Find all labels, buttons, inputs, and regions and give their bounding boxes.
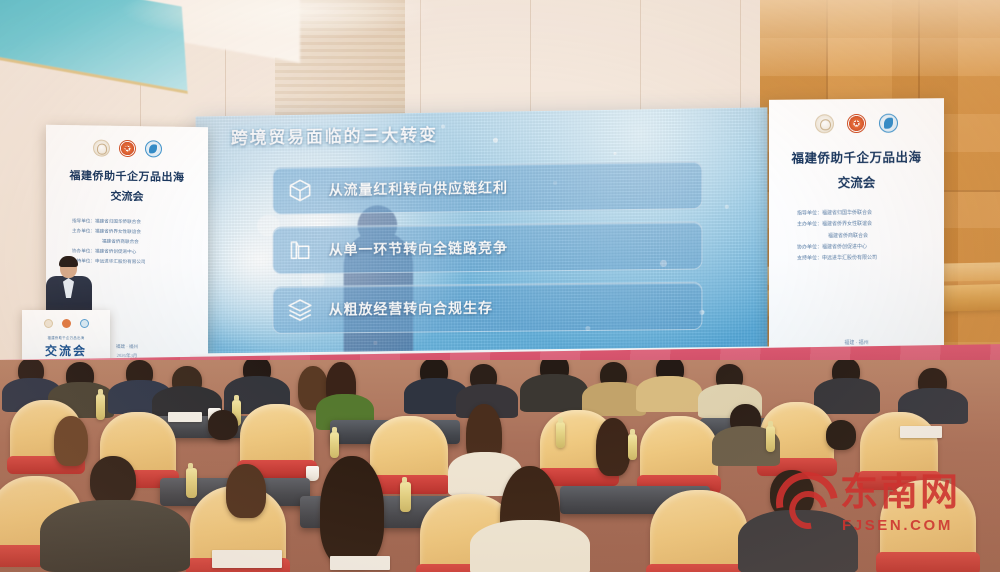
banner-left-title: 福建侨助千企万品出海 [46, 167, 208, 186]
org-role: 指导单位： [797, 209, 822, 219]
org-role: 主办单位： [72, 227, 95, 236]
org-role: 协办单位： [797, 243, 822, 253]
org-name: 福建省归国华侨联合会 [822, 209, 872, 220]
blue-globe-logo [145, 140, 162, 157]
conference-photo: 跨境贸易面临的三大转变 从流量红利转向供应链红利 从单一环节转向全链路竞争 [0, 0, 1000, 572]
watermark: 东南网 FJSEN.COM [776, 466, 994, 540]
watermark-en-text: FJSEN.COM [842, 517, 953, 534]
org-name: 福建省侨商联合会 [102, 238, 139, 248]
banner-left-subtitle: 交流会 [46, 187, 208, 206]
banner-left-logos [46, 139, 208, 159]
org-name: 福建省侨创促进中心 [822, 243, 867, 254]
banner-right-subtitle: 交流会 [769, 171, 944, 192]
banner-right: 福建侨助千企万品出海 交流会 指导单位：福建省归国华侨联合会 主办单位：福建省侨… [769, 98, 944, 372]
podium-small-text: 福建侨助千企万品出海 [22, 335, 110, 340]
banner-right-title: 福建侨助千企万品出海 [769, 146, 944, 167]
gold-seal-logo [44, 319, 53, 328]
red-star-emblem-logo [847, 114, 866, 133]
ceiling-light-glow [120, 0, 440, 40]
blue-globe-logo [879, 114, 898, 133]
org-role: 协办单位： [72, 247, 95, 256]
wall-light-falloff [760, 0, 1000, 78]
red-star-emblem-logo [119, 140, 136, 157]
led-presentation-screen: 跨境贸易面临的三大转变 从流量红利转向供应链红利 从单一环节转向全链路竞争 [196, 107, 768, 359]
blue-globe-logo [80, 319, 89, 328]
banner-right-orgs: 指导单位：福建省归国华侨联合会 主办单位：福建省侨界女性联谊会 福建省侨商联合会… [769, 208, 944, 265]
podium-big-text: 交流会 [22, 342, 110, 359]
fjsen-swirl-logo-icon [764, 460, 850, 546]
org-name: 福建省归国华侨联合会 [95, 217, 141, 227]
gold-seal-logo [93, 139, 110, 156]
red-star-emblem-logo [62, 319, 71, 328]
podium-logos [22, 319, 110, 328]
org-name: 福建省侨界女性联谊会 [822, 220, 872, 231]
org-role: 指导单位： [72, 217, 95, 226]
org-name: 申远进华汇股份有限公司 [822, 254, 877, 265]
org-name: 福建省侨商联合会 [828, 231, 868, 242]
speaker-hair [59, 256, 78, 267]
banner-right-logos [769, 113, 944, 134]
gold-seal-logo [815, 114, 834, 133]
screen-pixel-grid [196, 107, 768, 359]
watermark-cn-text: 东南网 [840, 474, 960, 512]
org-role: 主办单位： [797, 221, 822, 231]
org-name: 福建省侨界女性联谊会 [95, 227, 141, 237]
org-name: 申远进华汇股份有限公司 [95, 257, 146, 267]
org-name: 福建省侨创促进中心 [95, 247, 136, 257]
org-role: 支持单位： [797, 254, 822, 264]
